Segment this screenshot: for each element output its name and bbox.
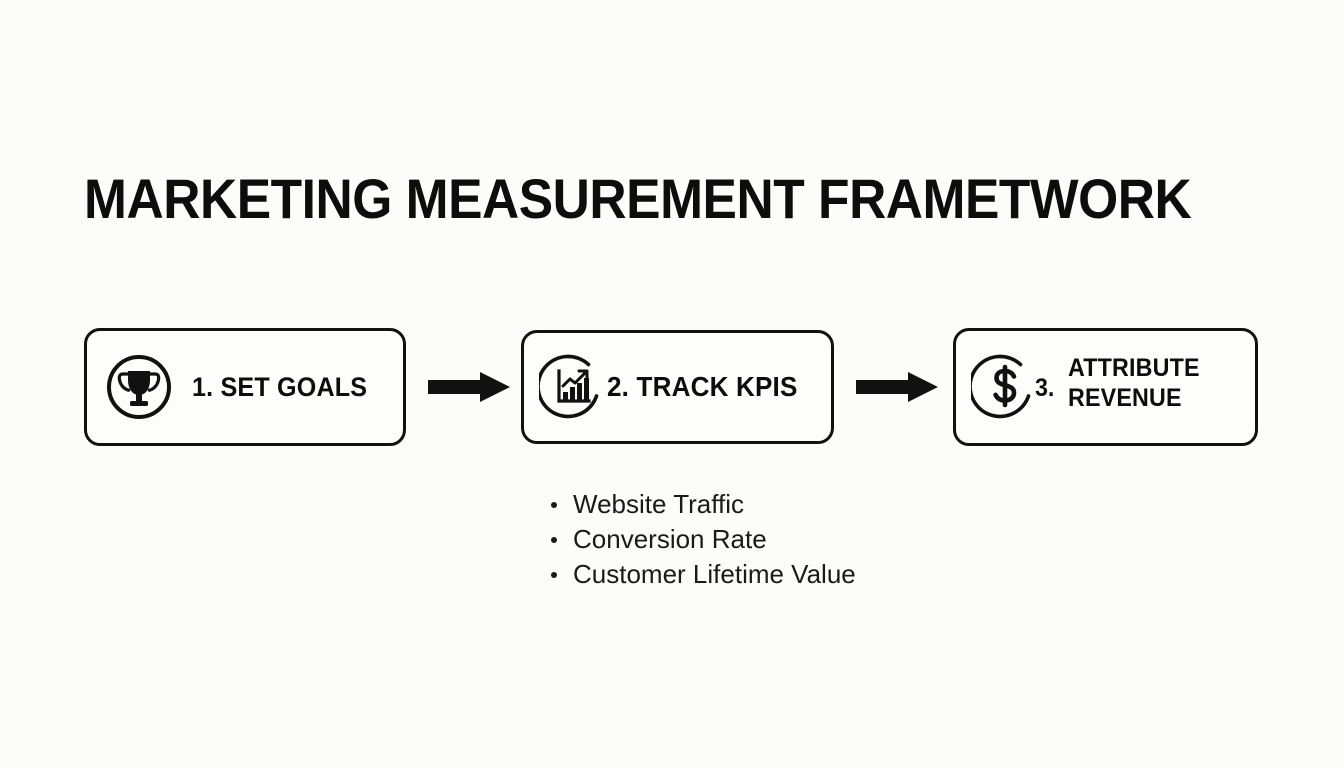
list-item-label: Conversion Rate <box>573 524 767 554</box>
bullet-icon <box>551 572 557 578</box>
step-label-set-goals: 1. SET GOALS <box>192 371 367 403</box>
page-title: MARKETING MEASUREMENT FRAMETWORK <box>84 168 1191 230</box>
list-item: Website Traffic <box>549 487 856 522</box>
arrow-right-icon <box>856 371 938 403</box>
kpi-list: Website Traffic Conversion Rate Customer… <box>549 487 856 592</box>
list-item: Customer Lifetime Value <box>549 557 856 592</box>
trophy-icon <box>105 353 173 421</box>
arrow-right-icon <box>428 371 510 403</box>
bar-chart-growth-icon <box>539 352 607 420</box>
list-item-label: Customer Lifetime Value <box>573 559 856 589</box>
dollar-sign-icon <box>971 352 1039 420</box>
step-label-track-kpis: 2. TRACK KPIS <box>607 370 798 403</box>
step-label-attribute-revenue: ATTRIBUTE REVENUE <box>1068 353 1200 413</box>
bullet-icon <box>551 537 557 543</box>
step-number-attribute-revenue: 3. <box>1035 374 1054 402</box>
list-item-label: Website Traffic <box>573 489 744 519</box>
bullet-icon <box>551 502 557 508</box>
diagram-canvas: MARKETING MEASUREMENT FRAMETWORK 1. SET … <box>0 0 1344 768</box>
list-item: Conversion Rate <box>549 522 856 557</box>
